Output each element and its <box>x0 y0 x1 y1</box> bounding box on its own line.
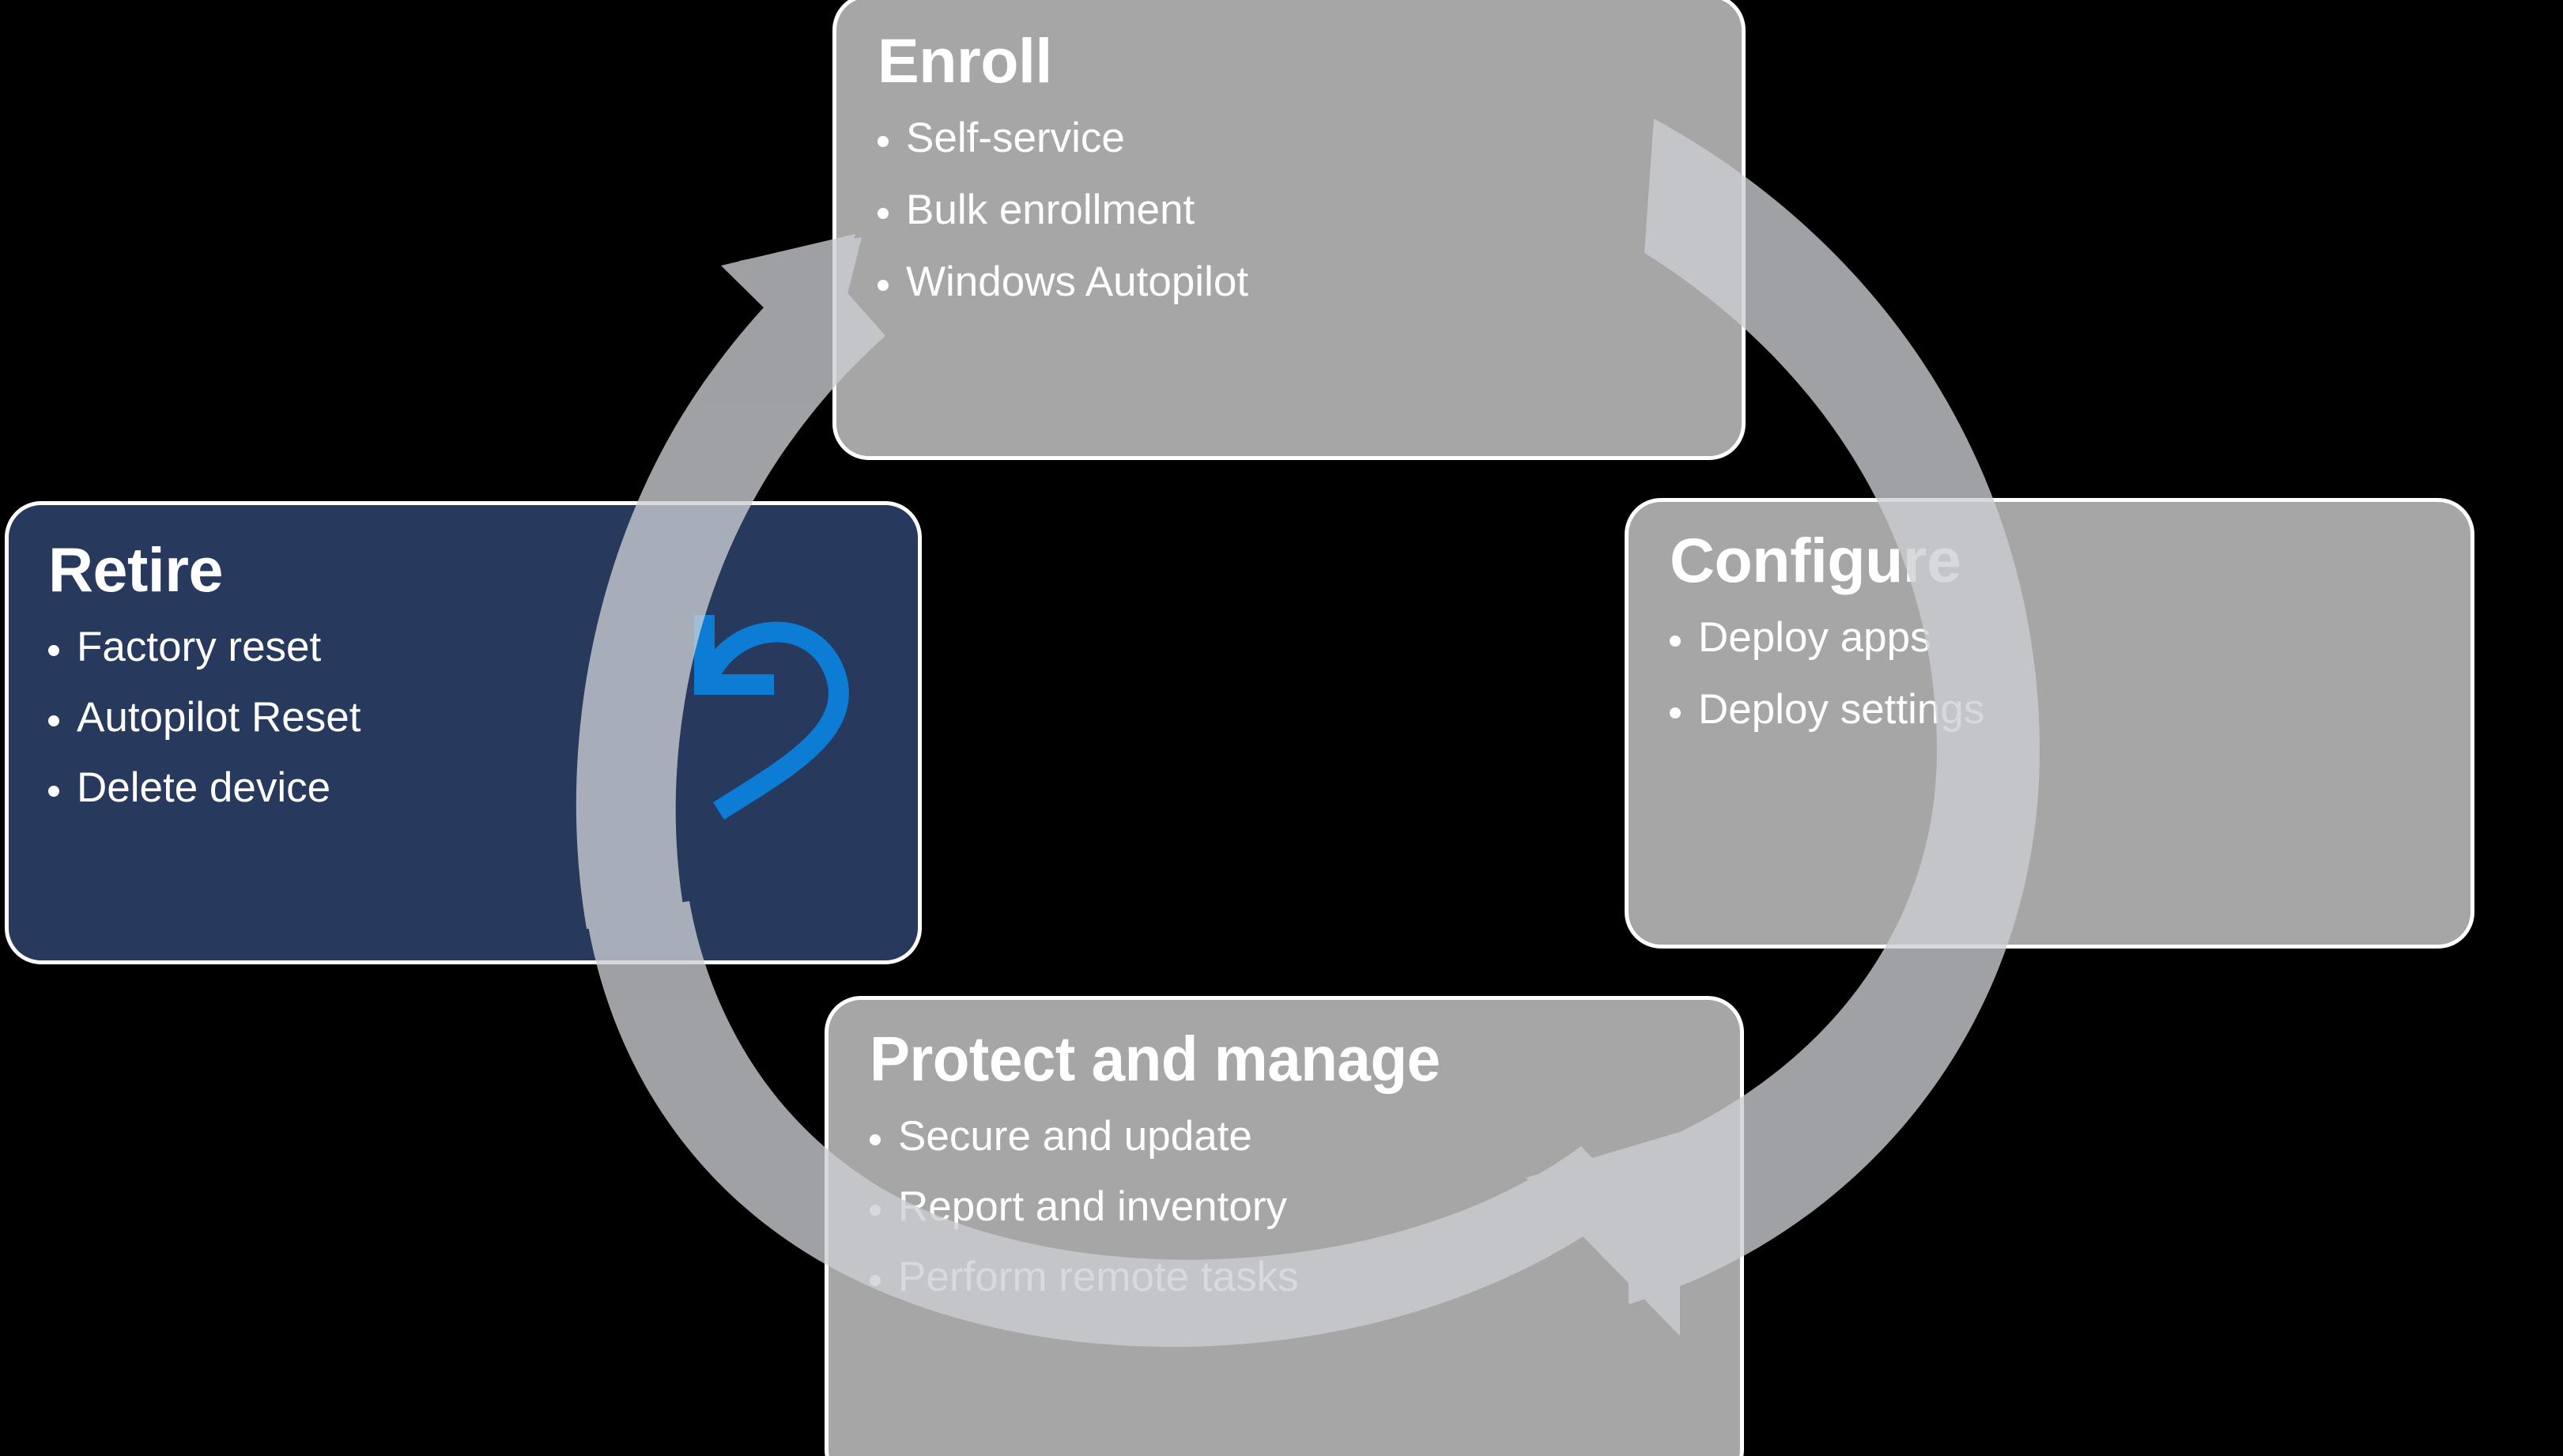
stage-card-retire[interactable]: Retire Factory reset Autopilot Reset Del… <box>5 501 922 964</box>
stage-card-configure[interactable]: Configure Deploy apps Deploy settings <box>1625 498 2474 949</box>
bullet-dot-icon <box>878 280 889 291</box>
bullet-dot-icon <box>870 1205 881 1216</box>
bullet-dot-icon <box>48 786 59 797</box>
bullet-dot-icon <box>878 208 889 219</box>
list-item: Deploy apps <box>1670 617 2439 658</box>
list-item: Perform remote tasks <box>870 1256 1708 1298</box>
stage-title-configure: Configure <box>1670 529 2439 593</box>
stage-card-protect-and-manage[interactable]: Protect and manage Secure and update Rep… <box>825 996 1744 1456</box>
stage-title-enroll: Enroll <box>878 29 1710 93</box>
bullet-dot-icon <box>1670 707 1681 719</box>
bullet-dot-icon <box>48 645 59 656</box>
bullet-dot-icon <box>1670 636 1681 647</box>
list-item: Self-service <box>878 117 1710 159</box>
bullet-dot-icon <box>48 715 59 726</box>
stage-title-protect-and-manage: Protect and manage <box>870 1027 1670 1092</box>
list-item-label: Secure and update <box>898 1115 1252 1157</box>
list-item: Secure and update <box>870 1115 1708 1157</box>
bullet-dot-icon <box>870 1134 881 1145</box>
list-item: Deploy settings <box>1670 688 2439 730</box>
list-item-label: Report and inventory <box>898 1186 1287 1228</box>
list-item-label: Bulk enrollment <box>906 189 1195 231</box>
undo-arrow-icon <box>657 596 855 825</box>
list-item-label: Self-service <box>906 117 1125 159</box>
list-item-label: Autopilot Reset <box>77 696 360 738</box>
list-item: Bulk enrollment <box>878 189 1710 231</box>
stage-bullets-enroll: Self-service Bulk enrollment Windows Aut… <box>878 117 1710 303</box>
bullet-dot-icon <box>870 1275 881 1286</box>
stage-bullets-protect-and-manage: Secure and update Report and inventory P… <box>870 1115 1708 1298</box>
stage-bullets-configure: Deploy apps Deploy settings <box>1670 617 2439 730</box>
bullet-dot-icon <box>878 136 889 147</box>
list-item-label: Perform remote tasks <box>898 1256 1299 1298</box>
stage-title-retire: Retire <box>48 538 886 602</box>
list-item-label: Windows Autopilot <box>906 261 1248 303</box>
list-item: Windows Autopilot <box>878 261 1710 303</box>
list-item-label: Delete device <box>77 767 330 809</box>
stage-card-enroll[interactable]: Enroll Self-service Bulk enrollment Wind… <box>832 0 1746 460</box>
list-item: Report and inventory <box>870 1186 1708 1228</box>
diagram-canvas: Enroll Self-service Bulk enrollment Wind… <box>0 0 2563 1456</box>
list-item-label: Deploy settings <box>1698 688 1984 730</box>
list-item-label: Factory reset <box>77 626 321 668</box>
list-item-label: Deploy apps <box>1698 617 1931 658</box>
